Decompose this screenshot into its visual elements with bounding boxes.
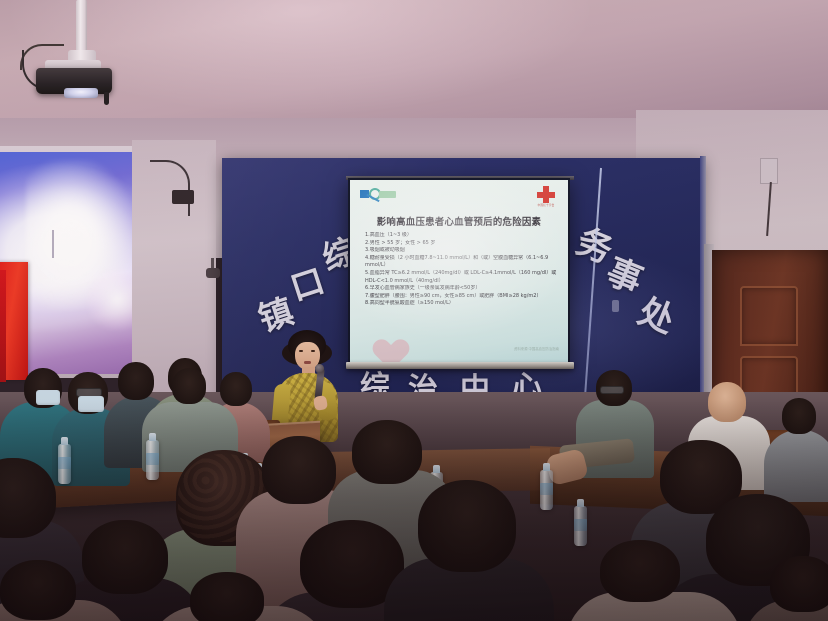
slide-title: 影响高血压患者心血管预后的危险因素 — [350, 214, 568, 228]
red-cross-logo: 中国红十字会 — [533, 185, 559, 209]
head — [708, 382, 746, 422]
presenter-mouth — [304, 361, 311, 364]
head — [418, 480, 516, 572]
slide-line: 7.腹型肥胖（腰围：男性≥90 cm，女性≥85 cm）或肥胖（BMI≥28 k… — [365, 293, 558, 301]
wall-camera — [206, 268, 220, 278]
water-bottle — [574, 506, 587, 546]
projector-hanging-cable-end — [104, 92, 109, 105]
water-bottle — [146, 440, 159, 480]
slide-line: 4.糖耐量受损（2 小时血糖7.8~11.0 mmol/L）和（或）空腹血糖异常… — [365, 255, 558, 270]
head — [782, 398, 816, 434]
red-banner-fold — [0, 270, 6, 382]
face-mask — [78, 396, 104, 412]
wall-cable — [150, 160, 190, 216]
slide-body: 1.高血压（1~3 级） 2.男性 > 55 岁；女性 > 65 岁 3.吸烟或… — [365, 232, 558, 308]
head — [0, 560, 76, 620]
eyeglasses — [600, 386, 624, 394]
window-mullion — [52, 230, 54, 258]
health-org-logo — [360, 187, 398, 202]
slide-line: 6.早发心血管病家族史（一级亲属发病年龄<50岁） — [365, 285, 558, 293]
slide-line: 8.高同型半胱氨酸血症（≥150 mol/L） — [365, 300, 558, 308]
projection-screen: 中国红十字会 影响高血压患者心血管预后的危险因素 1.高血压（1~3 级） 2.… — [348, 178, 570, 364]
pink-heart-graphic — [364, 324, 400, 356]
slide-line: 1.高血压（1~3 级） — [365, 232, 558, 240]
water-bottle — [540, 470, 553, 510]
head — [262, 436, 336, 504]
slide-line: 3.吸烟或被动吸烟 — [365, 247, 558, 255]
face-mask — [36, 390, 60, 405]
torso — [764, 430, 828, 502]
slide-line: 2.男性 > 55 岁；女性 > 65 岁 — [365, 240, 558, 248]
head — [600, 540, 680, 602]
head — [770, 556, 828, 612]
wall-socket — [760, 158, 778, 184]
water-bottle — [58, 444, 71, 484]
screen-bottom-bar — [346, 362, 574, 369]
hanging-wire-clip — [612, 300, 619, 312]
presenter-eye-right — [311, 350, 315, 352]
head — [118, 362, 154, 400]
head — [352, 420, 422, 484]
wall-junction-box — [172, 190, 194, 204]
presenter-eye-left — [299, 350, 303, 352]
lecture-hall-photo: 镇 口 综 务 事 处 综 治 中 心 中国红十字会 影响高血压患者心血管预后的… — [0, 0, 828, 621]
head — [172, 368, 206, 404]
head — [190, 572, 264, 621]
door-panel-upper — [740, 286, 798, 346]
head — [220, 372, 252, 406]
projector-lens — [64, 88, 98, 98]
slide-line: 5.血脂异常 TC≥6.2 mmol/L（240mg/dl）或 LDL-C≥4.… — [365, 270, 558, 285]
red-cross-caption: 中国红十字会 — [533, 203, 559, 207]
projector-mount-rod — [76, 0, 87, 56]
head — [82, 520, 168, 594]
microphone-head — [315, 364, 324, 373]
slide-credit: 资料来源 中国高血压防治指南 — [514, 347, 559, 352]
